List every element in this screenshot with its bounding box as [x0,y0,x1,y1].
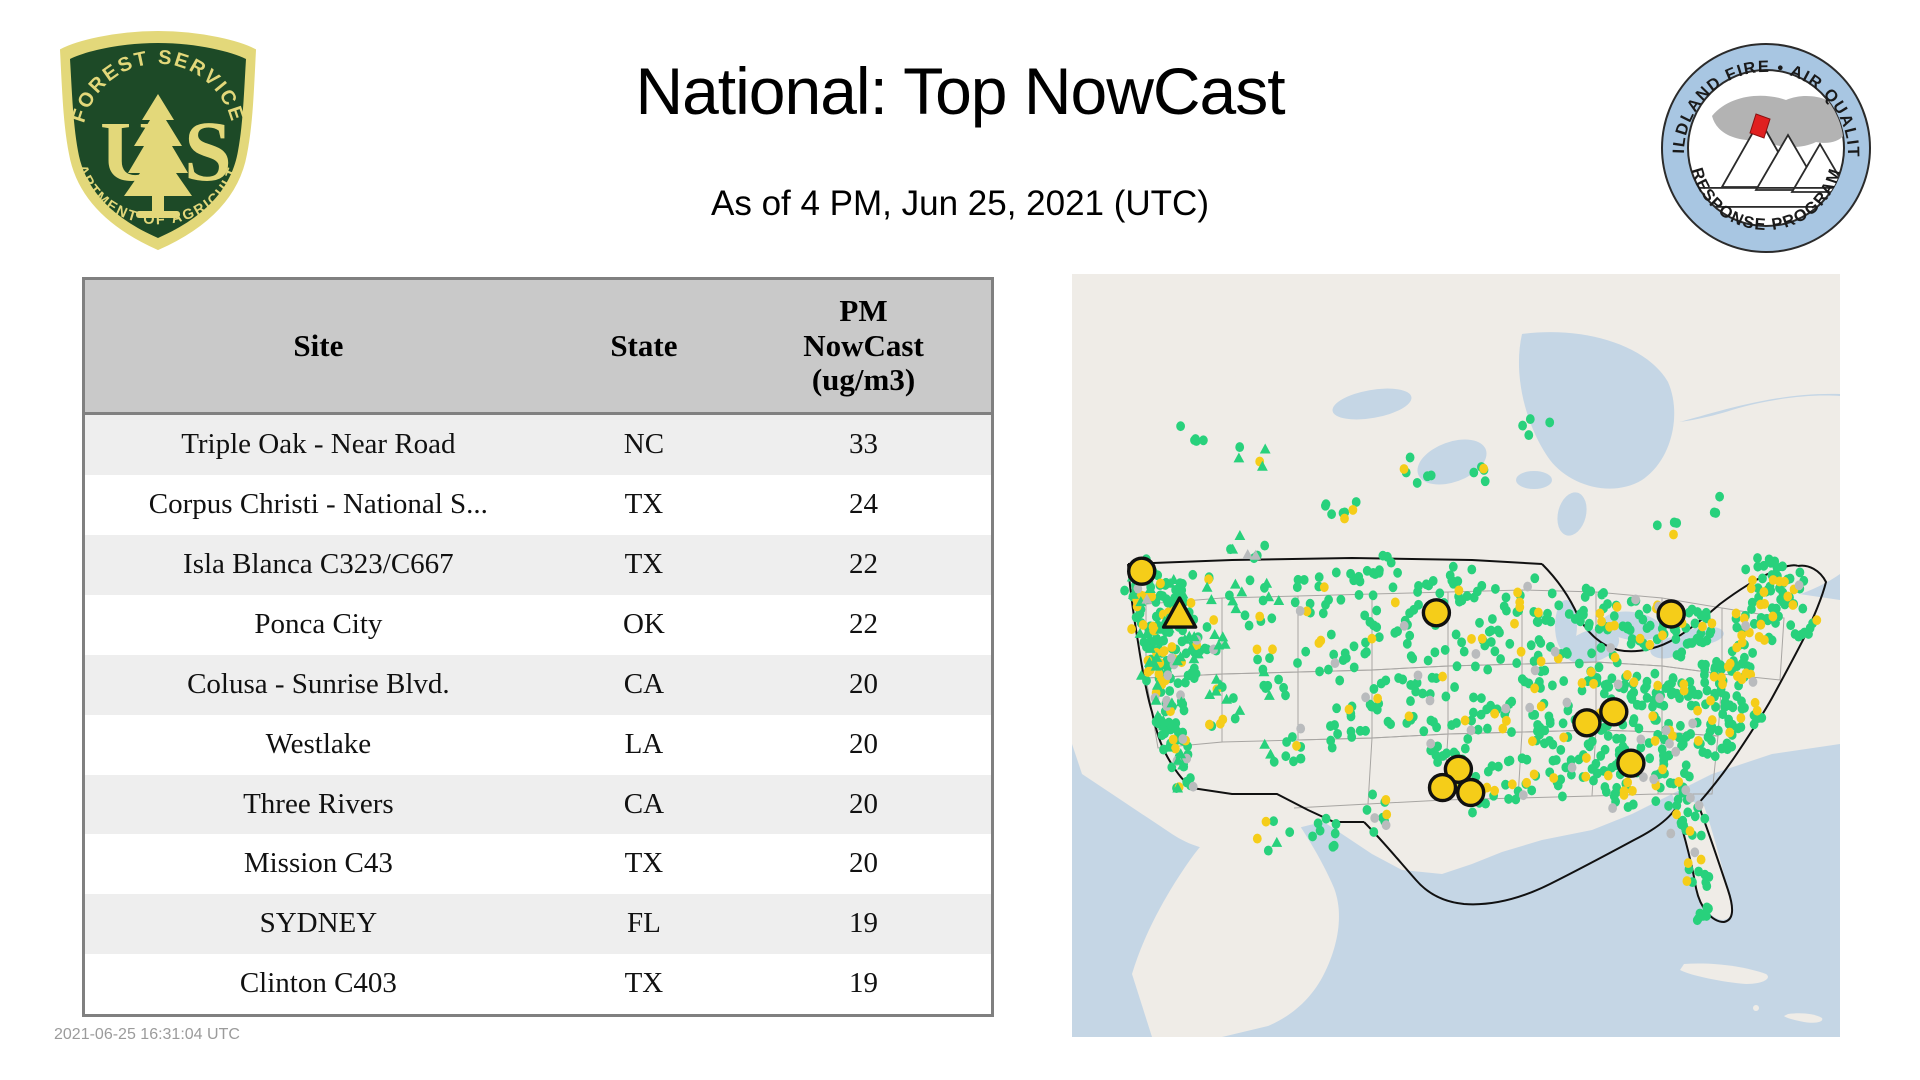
top-site-marker-temporary[interactable] [1601,699,1627,725]
table-row: Three RiversCA20 [85,775,991,835]
table-cell-site: SYDNEY [85,894,552,954]
table-cell-site: Triple Oak - Near Road [85,414,552,475]
table-row: Corpus Christi - National S...TX24 [85,475,991,535]
table-cell-site: Three Rivers [85,775,552,835]
table-row: Isla Blanca C323/C667TX22 [85,535,991,595]
table-cell-state: TX [552,834,736,894]
us-forest-service-shield-logo: FOREST SERVICE DEPARTMENT OF AGRICULTURE… [52,28,264,253]
table-cell-value: 20 [736,834,991,894]
table-cell-state: CA [552,655,736,715]
table-cell-value: 20 [736,715,991,775]
table-cell-state: OK [552,595,736,655]
top-site-marker-temporary[interactable] [1129,558,1155,584]
table-cell-site: Westlake [85,715,552,775]
table-cell-site: Mission C43 [85,834,552,894]
table-cell-value: 22 [736,535,991,595]
table-row: WestlakeLA20 [85,715,991,775]
column-header-state: State [552,280,736,414]
table-cell-value: 20 [736,655,991,715]
table-row: Triple Oak - Near RoadNC33 [85,414,991,475]
table-cell-value: 22 [736,595,991,655]
table-cell-state: TX [552,475,736,535]
table-header-row: Site State PM NowCast (ug/m3) [85,280,991,414]
top-nowcast-table: Site State PM NowCast (ug/m3) Triple Oak… [82,277,994,1017]
table-cell-site: Isla Blanca C323/C667 [85,535,552,595]
aqi-monitor-map[interactable]: Air Quality Index HazardousVery Unhealth… [1072,274,1840,1037]
table-cell-value: 19 [736,954,991,1014]
top-site-marker-temporary[interactable] [1458,780,1484,806]
wildland-fire-air-quality-response-program-logo: WILDLAND FIRE • AIR QUALITY RESPONSE PRO… [1660,42,1872,254]
table-cell-state: CA [552,775,736,835]
footer-timestamp: 2021-06-25 16:31:04 UTC [54,1026,240,1044]
table-cell-site: Clinton C403 [85,954,552,1014]
column-header-pm-line1: PM [839,293,887,328]
map-canvas[interactable] [1072,274,1840,1037]
table-cell-value: 33 [736,414,991,475]
top-site-marker-temporary[interactable] [1430,775,1456,801]
page-title: National: Top NowCast [460,55,1460,128]
table-cell-state: NC [552,414,736,475]
page-subtitle: As of 4 PM, Jun 25, 2021 (UTC) [460,185,1460,224]
table-cell-site: Colusa - Sunrise Blvd. [85,655,552,715]
table-cell-site: Ponca City [85,595,552,655]
top-site-marker-temporary[interactable] [1618,750,1644,776]
table-cell-site: Corpus Christi - National S... [85,475,552,535]
table-row: Mission C43TX20 [85,834,991,894]
table-cell-value: 19 [736,894,991,954]
table-row: Colusa - Sunrise Blvd.CA20 [85,655,991,715]
top-site-marker-temporary[interactable] [1423,600,1449,626]
top-site-marker-temporary[interactable] [1574,710,1600,736]
table-cell-state: TX [552,535,736,595]
table-cell-state: LA [552,715,736,775]
table-cell-state: FL [552,894,736,954]
column-header-site: Site [85,280,552,414]
table-row: SYDNEYFL19 [85,894,991,954]
column-header-pm-line2: NowCast [803,328,924,363]
header: FOREST SERVICE DEPARTMENT OF AGRICULTURE… [0,0,1920,260]
column-header-pm-nowcast: PM NowCast (ug/m3) [736,280,991,414]
table-cell-state: TX [552,954,736,1014]
table-cell-value: 24 [736,475,991,535]
table-row: Ponca CityOK22 [85,595,991,655]
top-site-marker-temporary[interactable] [1658,601,1684,627]
table-row: Clinton C403TX19 [85,954,991,1014]
table-cell-value: 20 [736,775,991,835]
svg-text:S: S [184,103,232,199]
column-header-pm-line3: (ug/m3) [812,362,915,397]
